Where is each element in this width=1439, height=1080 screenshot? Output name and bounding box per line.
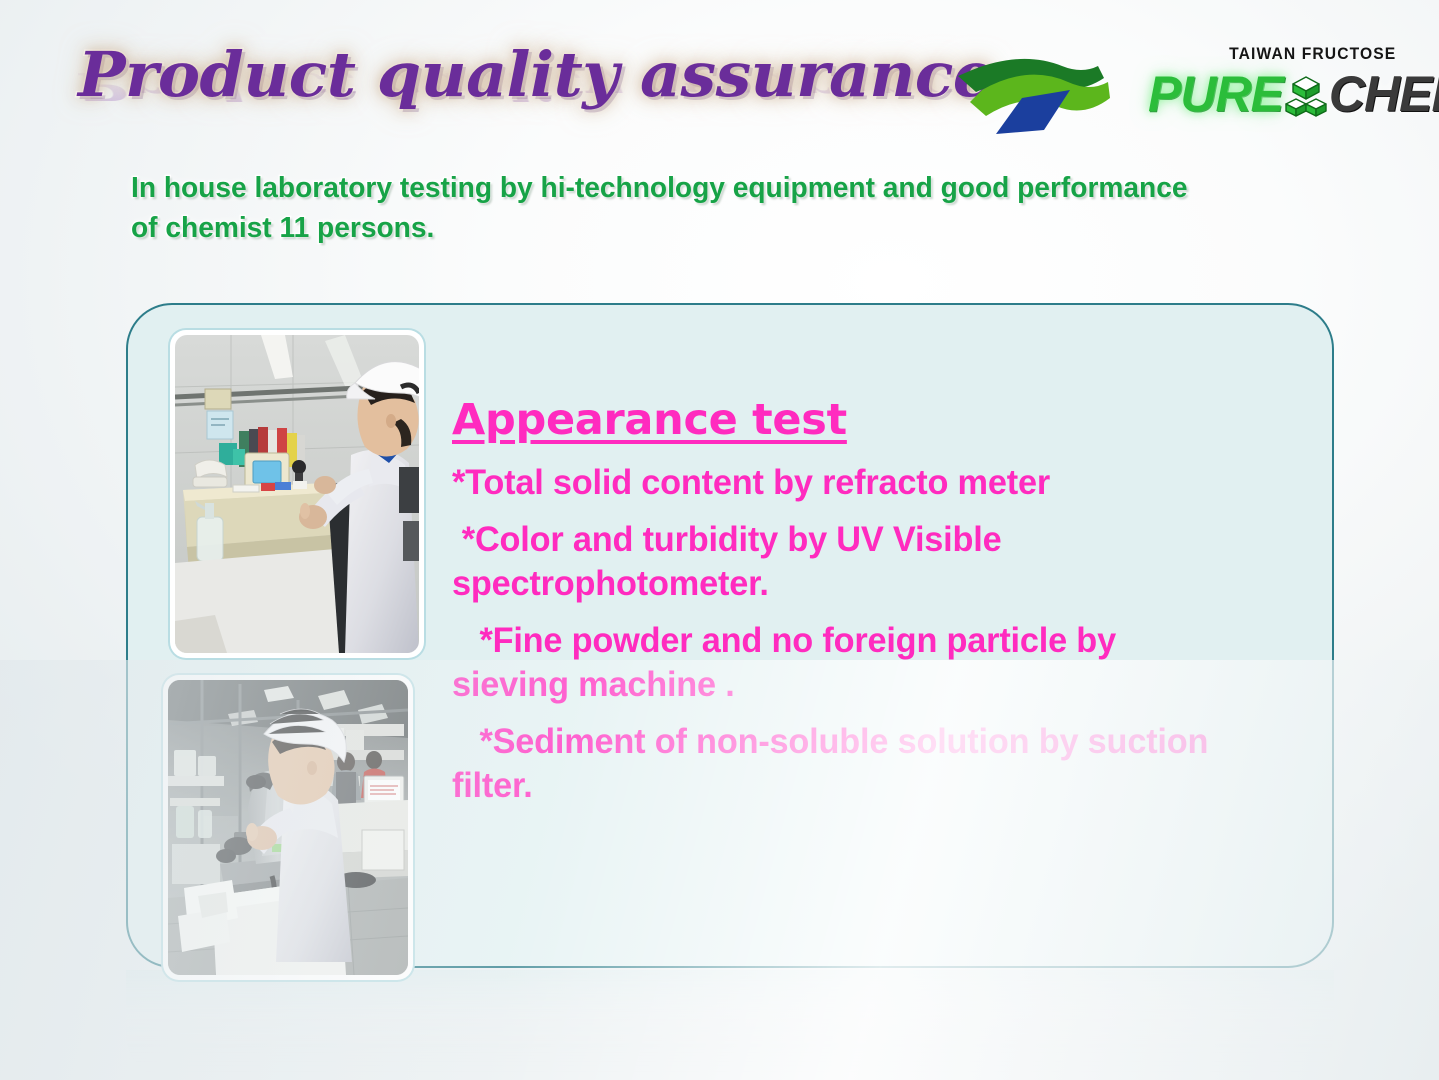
logo-wordmark: PURE CHEM xyxy=(1148,66,1400,122)
logo-word-chem: CHEM xyxy=(1329,66,1439,122)
logo-text-block: TAIWAN FRUCTOSE PURE CHEM xyxy=(1148,44,1400,122)
slide-canvas: Product quality assurance Product qualit… xyxy=(0,0,1439,1080)
bullet-sediment: *Sediment of non-soluble solution by suc… xyxy=(452,720,1236,808)
cube-icon xyxy=(1284,75,1328,119)
content-text-block: Appearance test *Total solid content by … xyxy=(452,393,1252,821)
logo-mark-icon xyxy=(952,48,1122,144)
bullet-total-solid-content: *Total solid content by refracto meter xyxy=(452,461,1236,505)
photo-refractometer xyxy=(170,330,424,658)
photo-microscope-image xyxy=(168,680,408,975)
bullet-color-turbidity: *Color and turbidity by UV Visible spect… xyxy=(452,518,1236,606)
page-title: Product quality assurance xyxy=(78,36,955,114)
appearance-test-heading: Appearance test xyxy=(452,393,1252,447)
slide-title-block: Product quality assurance Product qualit… xyxy=(78,36,938,164)
logo-word-pure: PURE xyxy=(1148,66,1283,122)
logo-tagline: TAIWAN FRUCTOSE xyxy=(1168,44,1400,64)
company-logo: TAIWAN FRUCTOSE PURE CHEM xyxy=(952,44,1400,148)
bullet-fine-powder: *Fine powder and no foreign particle by … xyxy=(452,619,1236,707)
photo-refractometer-image xyxy=(175,335,419,653)
slide-subtitle: In house laboratory testing by hi-techno… xyxy=(131,168,1217,248)
photo-microscope xyxy=(163,675,413,980)
content-panel-reflection xyxy=(126,970,1334,1080)
